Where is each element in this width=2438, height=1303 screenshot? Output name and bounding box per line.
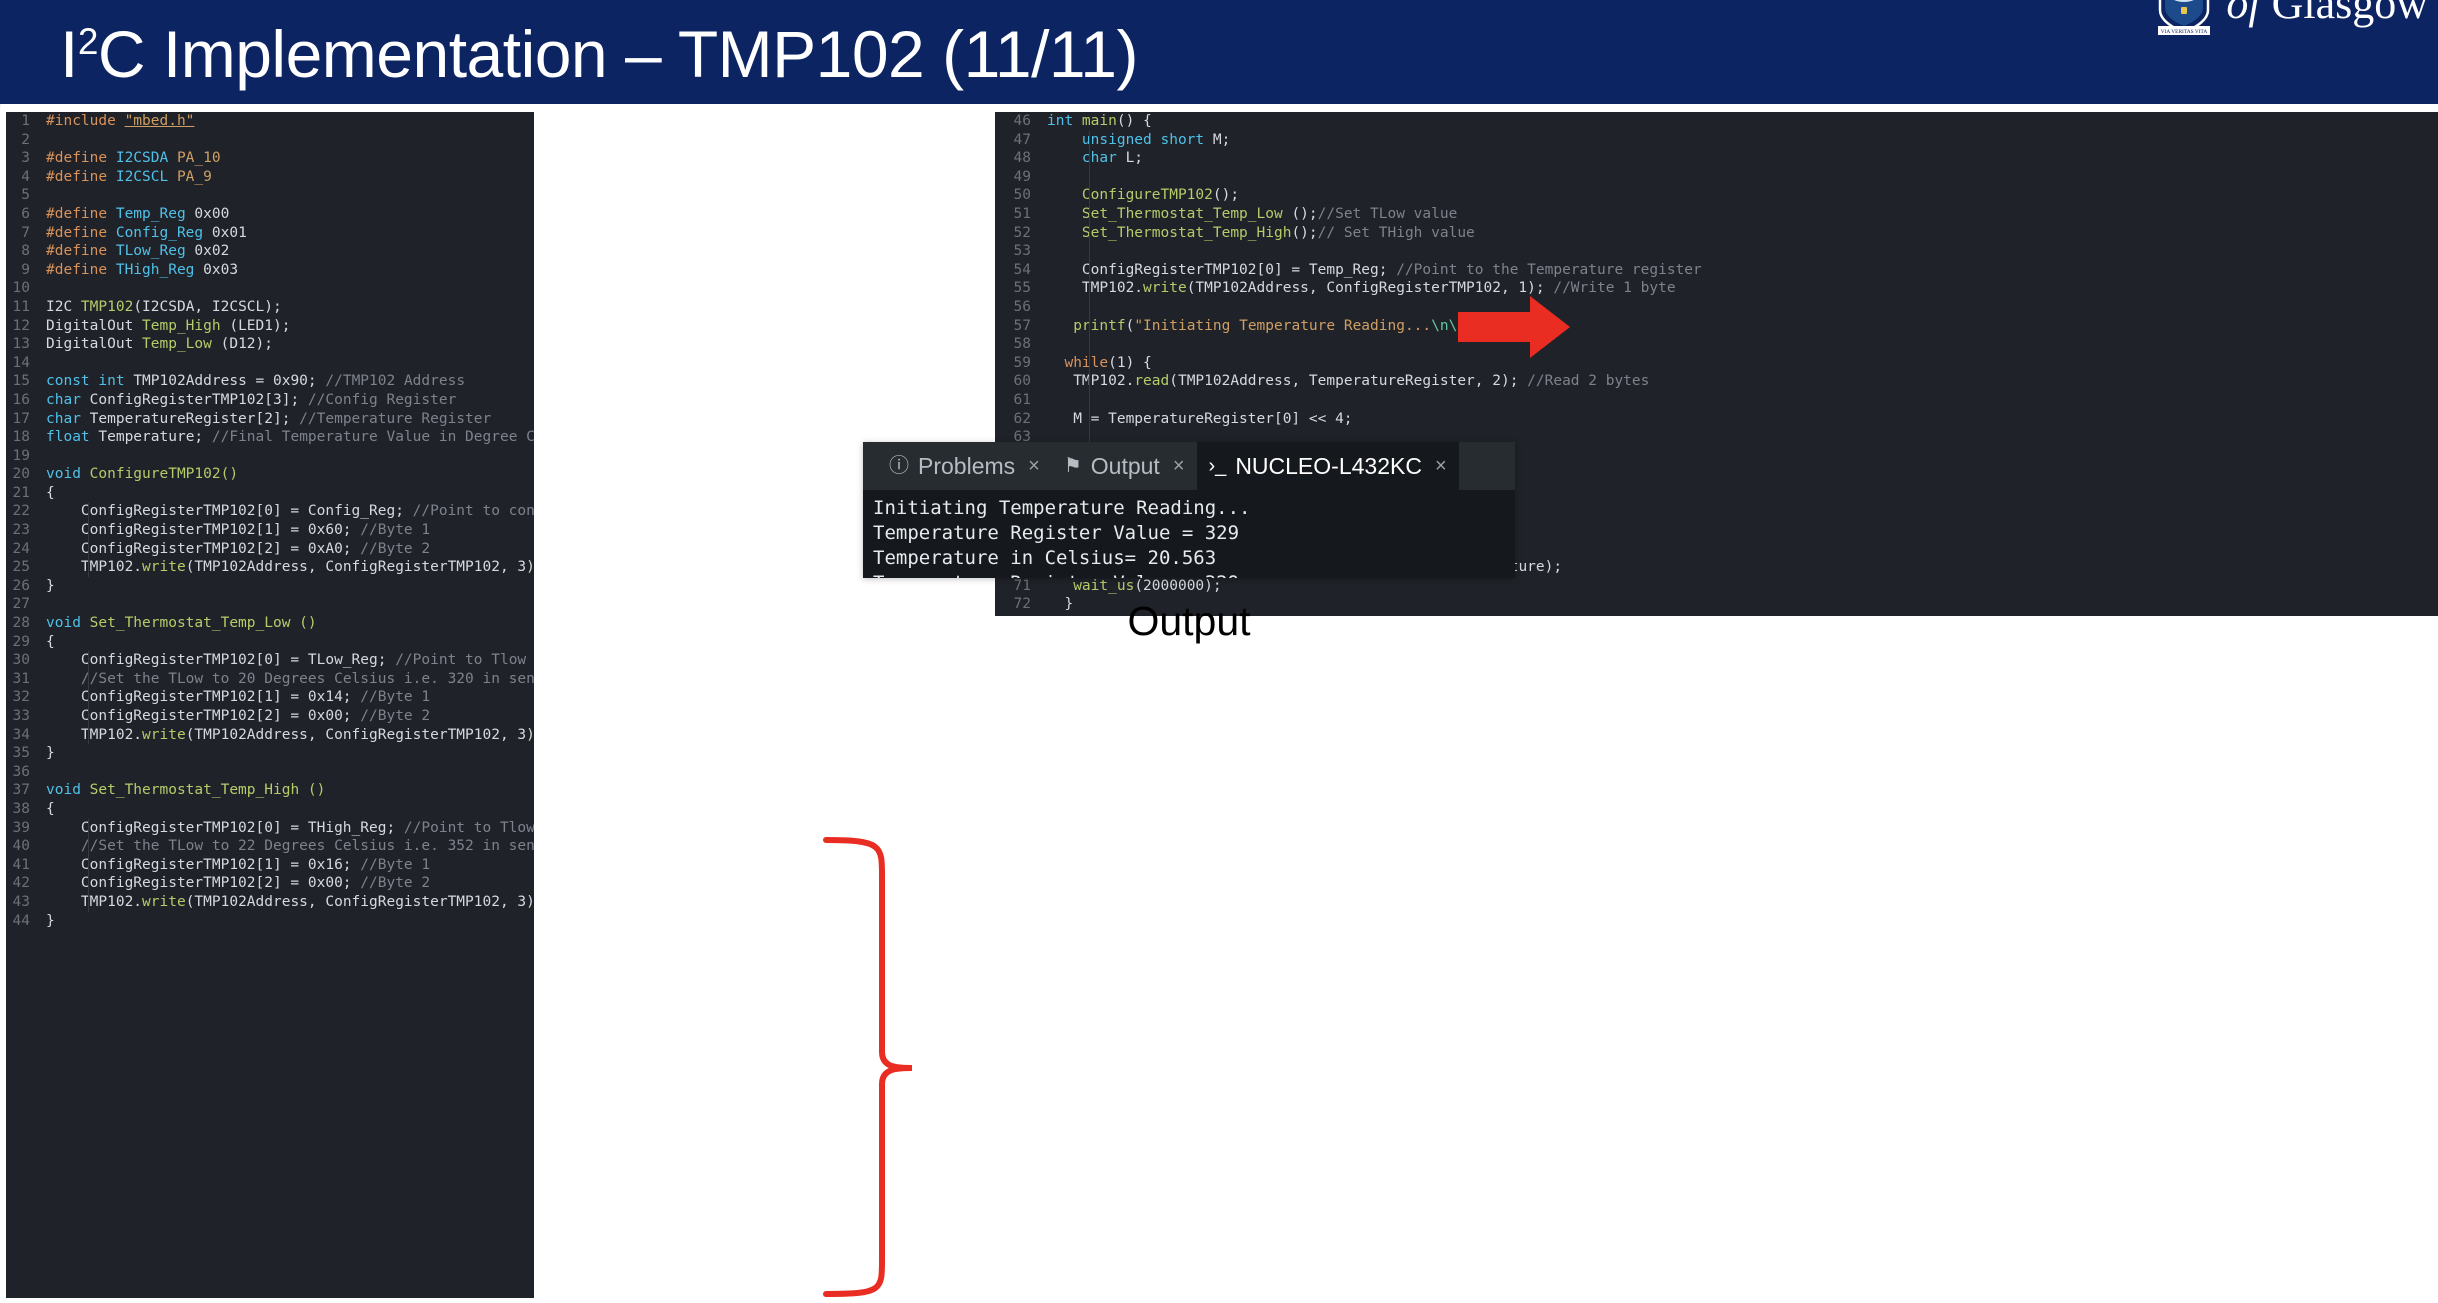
line-number: 28 (6, 614, 46, 633)
code-line[interactable]: 33 ConfigRegisterTMP102[2] = 0x00; //Byt… (6, 707, 534, 726)
code-line-text: unsigned short M; (1047, 131, 2438, 150)
line-number: 54 (995, 261, 1047, 280)
code-line[interactable]: 20void ConfigureTMP102() (6, 465, 534, 484)
line-number: 10 (6, 279, 46, 298)
code-line[interactable]: 3#define I2CSDA PA_10 (6, 149, 534, 168)
code-line[interactable]: 30 ConfigRegisterTMP102[0] = TLow_Reg; /… (6, 651, 534, 670)
logo-word-glasgow: Glasgow (2272, 0, 2428, 28)
code-line-text: #define I2CSCL PA_9 (46, 168, 534, 187)
code-line-text (46, 279, 534, 298)
title-suffix: C Implementation – TMP102 (11/11) (98, 17, 1138, 91)
code-line-text (46, 186, 534, 205)
code-line-text: TMP102.write(TMP102Address, ConfigRegist… (1047, 279, 2438, 298)
code-line[interactable]: 40 //Set the TLow to 22 Degrees Celsius … (6, 837, 534, 856)
code-line-text: } (46, 744, 534, 763)
code-line-text (1047, 391, 2438, 410)
code-line-text: { (46, 800, 534, 819)
line-number: 2 (6, 131, 46, 150)
line-number: 35 (6, 744, 46, 763)
line-number: 3 (6, 149, 46, 168)
code-line-text: { (46, 633, 534, 652)
code-line-text (1047, 242, 2438, 261)
code-line-text: TMP102.write(TMP102Address, ConfigRegist… (46, 558, 534, 577)
code-line-text: #define THigh_Reg 0x03 (46, 261, 534, 280)
code-line[interactable]: 31 //Set the TLow to 20 Degrees Celsius … (6, 670, 534, 689)
code-line-text: float Temperature; //Final Temperature V… (46, 428, 534, 447)
code-line-text: TMP102.read(TMP102Address, TemperatureRe… (1047, 372, 2438, 391)
line-number: 37 (6, 781, 46, 800)
code-line-text: M = TemperatureRegister[0] << 4; (1047, 410, 2438, 429)
terminal-tab-label: NUCLEO-L432KC (1235, 453, 1422, 480)
line-number: 23 (6, 521, 46, 540)
line-number: 14 (6, 354, 46, 373)
code-line[interactable]: 24 ConfigRegisterTMP102[2] = 0xA0; //Byt… (6, 540, 534, 559)
code-line-text: } (46, 577, 534, 596)
code-line-text: ConfigRegisterTMP102[0] = TLow_Reg; //Po… (46, 651, 534, 670)
line-number: 7 (6, 224, 46, 243)
code-line[interactable]: 57 printf("Initiating Temperature Readin… (995, 317, 2438, 336)
code-line[interactable]: 2 (6, 131, 534, 150)
indent-guide (88, 819, 89, 912)
code-line[interactable]: 26} (6, 577, 534, 596)
title-prefix: I (60, 17, 78, 91)
line-number: 29 (6, 633, 46, 652)
code-line[interactable]: 59 while(1) { (995, 354, 2438, 373)
code-line[interactable]: 62 M = TemperatureRegister[0] << 4; (995, 410, 2438, 429)
code-line[interactable]: 11I2C TMP102(I2CSDA, I2CSCL); (6, 298, 534, 317)
line-number: 5 (6, 186, 46, 205)
code-line-text: DigitalOut Temp_Low (D12); (46, 335, 534, 354)
terminal-tab-label: Problems (918, 453, 1015, 480)
code-line-text: const int TMP102Address = 0x90; //TMP102… (46, 372, 534, 391)
line-number: 8 (6, 242, 46, 261)
line-number: 24 (6, 540, 46, 559)
code-editor-left-pane[interactable]: 1#include "mbed.h"23#define I2CSDA PA_10… (6, 112, 534, 1298)
code-line-text: void Set_Thermostat_Temp_High () (46, 781, 534, 800)
university-of-glasgow-logo: VIA VERITAS VITA of Glasgow (2156, 0, 2428, 36)
line-number: 44 (6, 912, 46, 931)
line-number: 18 (6, 428, 46, 447)
code-line[interactable]: 19 (6, 447, 534, 466)
code-line[interactable]: 23 ConfigRegisterTMP102[1] = 0x60; //Byt… (6, 521, 534, 540)
page-title: I2C Implementation – TMP102 (11/11) (60, 16, 1138, 92)
line-number: 30 (6, 651, 46, 670)
terminal-tab-label: Output (1091, 453, 1160, 480)
line-number: 19 (6, 447, 46, 466)
code-line[interactable]: 12DigitalOut Temp_High (LED1); (6, 317, 534, 336)
code-line-text: #define Temp_Reg 0x00 (46, 205, 534, 224)
line-number: 51 (995, 205, 1047, 224)
code-line-text: Set_Thermostat_Temp_Low ();//Set TLow va… (1047, 205, 2438, 224)
code-line-text: char TemperatureRegister[2]; //Temperatu… (46, 410, 534, 429)
code-line-text: ConfigRegisterTMP102[1] = 0x16; //Byte 1 (46, 856, 534, 875)
code-line-text: void Set_Thermostat_Temp_Low () (46, 614, 534, 633)
code-line-text: while(1) { (1047, 354, 2438, 373)
line-number: 52 (995, 224, 1047, 243)
line-number: 11 (6, 298, 46, 317)
line-number: 56 (995, 298, 1047, 317)
code-line-text: ConfigRegisterTMP102[1] = 0x60; //Byte 1 (46, 521, 534, 540)
code-line-text (46, 595, 534, 614)
line-number: 25 (6, 558, 46, 577)
code-line-text (46, 763, 534, 782)
code-line[interactable]: 48 char L; (995, 149, 2438, 168)
code-line[interactable]: 54 ConfigRegisterTMP102[0] = Temp_Reg; /… (995, 261, 2438, 280)
code-line[interactable]: 71 wait_us(2000000); (995, 577, 2438, 596)
line-number: 42 (6, 874, 46, 893)
code-line[interactable]: 5 (6, 186, 534, 205)
code-line-text: } (46, 912, 534, 931)
line-number: 49 (995, 168, 1047, 187)
code-line[interactable]: 13DigitalOut Temp_Low (D12); (6, 335, 534, 354)
code-line-text: int main() { (1047, 112, 2438, 131)
university-crest-icon: VIA VERITAS VITA (2156, 0, 2212, 36)
code-line[interactable]: 29{ (6, 633, 534, 652)
code-line[interactable]: 55 TMP102.write(TMP102Address, ConfigReg… (995, 279, 2438, 298)
line-number: 61 (995, 391, 1047, 410)
line-number: 39 (6, 819, 46, 838)
code-line[interactable]: 36 (6, 763, 534, 782)
line-number: 48 (995, 149, 1047, 168)
code-line[interactable]: 9#define THigh_Reg 0x03 (6, 261, 534, 280)
line-number: 46 (995, 112, 1047, 131)
code-line[interactable]: 21{ (6, 484, 534, 503)
code-line[interactable]: 60 TMP102.read(TMP102Address, Temperatur… (995, 372, 2438, 391)
line-number: 57 (995, 317, 1047, 336)
line-number: 58 (995, 335, 1047, 354)
line-number: 53 (995, 242, 1047, 261)
code-line-text: void ConfigureTMP102() (46, 465, 534, 484)
code-line-text: DigitalOut Temp_High (LED1); (46, 317, 534, 336)
code-line[interactable]: 1#include "mbed.h" (6, 112, 534, 131)
line-number: 17 (6, 410, 46, 429)
line-number: 38 (6, 800, 46, 819)
line-number: 6 (6, 205, 46, 224)
code-line-text: ConfigureTMP102(); (1047, 186, 2438, 205)
line-number: 13 (6, 335, 46, 354)
indent-guide (88, 503, 89, 577)
code-line-text (46, 354, 534, 373)
line-number: 26 (6, 577, 46, 596)
warning-circle-icon: ⓘ (889, 456, 909, 476)
code-line-text: char L; (1047, 149, 2438, 168)
code-line[interactable]: 50 ConfigureTMP102(); (995, 186, 2438, 205)
code-line-text: ConfigRegisterTMP102[0] = Config_Reg; //… (46, 502, 534, 521)
code-line[interactable]: 47 unsigned short M; (995, 131, 2438, 150)
code-line[interactable]: 56 (995, 298, 2438, 317)
code-line[interactable]: 22 ConfigRegisterTMP102[0] = Config_Reg;… (6, 502, 534, 521)
red-curly-brace-annotation-icon (820, 836, 950, 1298)
line-number: 47 (995, 131, 1047, 150)
logo-wordmark: of Glasgow (2226, 0, 2428, 29)
line-number: 21 (6, 484, 46, 503)
close-icon[interactable]: × (1435, 455, 1447, 478)
code-line-text: Set_Thermostat_Temp_High();// Set THigh … (1047, 224, 2438, 243)
flag-icon: ⚑ (1064, 456, 1082, 476)
code-line[interactable]: 52 Set_Thermostat_Temp_High();// Set THi… (995, 224, 2438, 243)
code-line[interactable]: 34 TMP102.write(TMP102Address, ConfigReg… (6, 726, 534, 745)
code-line-text: #include "mbed.h" (46, 112, 534, 131)
code-line[interactable]: 16char ConfigRegisterTMP102[3]; //Config… (6, 391, 534, 410)
code-line[interactable]: 17char TemperatureRegister[2]; //Tempera… (6, 410, 534, 429)
code-line-text: printf("Initiating Temperature Reading..… (1047, 317, 2438, 336)
line-number: 62 (995, 410, 1047, 429)
code-line[interactable]: 32 ConfigRegisterTMP102[1] = 0x14; //Byt… (6, 688, 534, 707)
code-line-text: char ConfigRegisterTMP102[3]; //Config R… (46, 391, 534, 410)
logo-word-of: of (2226, 0, 2271, 28)
terminal-panel[interactable]: ⓘProblems×⚑Output×›_NUCLEO-L432KC× Initi… (863, 442, 1515, 578)
code-line[interactable]: 39 ConfigRegisterTMP102[0] = THigh_Reg; … (6, 819, 534, 838)
line-number: 16 (6, 391, 46, 410)
code-line[interactable]: 37void Set_Thermostat_Temp_High () (6, 781, 534, 800)
code-line-text: #define TLow_Reg 0x02 (46, 242, 534, 261)
code-line[interactable]: 6#define Temp_Reg 0x00 (6, 205, 534, 224)
code-line-text: ConfigRegisterTMP102[0] = Temp_Reg; //Po… (1047, 261, 2438, 280)
code-line-text: ConfigRegisterTMP102[0] = THigh_Reg; //P… (46, 819, 534, 838)
code-line[interactable]: 27 (6, 595, 534, 614)
code-line-text: #define Config_Reg 0x01 (46, 224, 534, 243)
code-line-text (46, 131, 534, 150)
code-line-text (1047, 298, 2438, 317)
title-superscript: 2 (78, 21, 98, 62)
line-number: 31 (6, 670, 46, 689)
code-line-text: wait_us(2000000); (1047, 577, 2438, 596)
line-number: 20 (6, 465, 46, 484)
code-line-text: ConfigRegisterTMP102[1] = 0x14; //Byte 1 (46, 688, 534, 707)
line-number: 55 (995, 279, 1047, 298)
code-line[interactable]: 58 (995, 335, 2438, 354)
terminal-tab-bar[interactable]: ⓘProblems×⚑Output×›_NUCLEO-L432KC× (863, 442, 1515, 490)
svg-text:VIA VERITAS VITA: VIA VERITAS VITA (2161, 29, 2208, 35)
code-line[interactable]: 49 (995, 168, 2438, 187)
terminal-tab-problems[interactable]: ⓘProblems× (877, 442, 1052, 490)
code-line[interactable]: 61 (995, 391, 2438, 410)
code-line[interactable]: 42 ConfigRegisterTMP102[2] = 0x00; //Byt… (6, 874, 534, 893)
code-line[interactable]: 41 ConfigRegisterTMP102[1] = 0x16; //Byt… (6, 856, 534, 875)
output-caption-label: Output (863, 598, 1515, 645)
terminal-prompt-icon: ›_ (1209, 456, 1227, 476)
code-line[interactable]: 38{ (6, 800, 534, 819)
code-line-text (46, 447, 534, 466)
line-number: 60 (995, 372, 1047, 391)
line-number: 12 (6, 317, 46, 336)
line-number: 34 (6, 726, 46, 745)
code-line-text: { (46, 484, 534, 503)
line-number: 32 (6, 688, 46, 707)
code-line[interactable]: 8#define TLow_Reg 0x02 (6, 242, 534, 261)
line-number: 15 (6, 372, 46, 391)
code-line[interactable]: 14 (6, 354, 534, 373)
line-number: 41 (6, 856, 46, 875)
code-line[interactable]: 35} (6, 744, 534, 763)
line-number: 43 (6, 893, 46, 912)
red-arrow-annotation-icon (1458, 296, 1570, 358)
code-line-text: ConfigRegisterTMP102[2] = 0x00; //Byte 2 (46, 874, 534, 893)
code-line-text: #define I2CSDA PA_10 (46, 149, 534, 168)
terminal-tab-output[interactable]: ⚑Output× (1052, 442, 1197, 490)
code-line[interactable]: 15const int TMP102Address = 0x90; //TMP1… (6, 372, 534, 391)
code-line-text: I2C TMP102(I2CSDA, I2CSCL); (46, 298, 534, 317)
line-number: 59 (995, 354, 1047, 373)
line-number: 71 (995, 577, 1047, 596)
code-line[interactable]: 18float Temperature; //Final Temperature… (6, 428, 534, 447)
line-number: 9 (6, 261, 46, 280)
code-line-text: ConfigRegisterTMP102[2] = 0x00; //Byte 2 (46, 707, 534, 726)
code-line[interactable]: 51 Set_Thermostat_Temp_Low ();//Set TLow… (995, 205, 2438, 224)
code-line-text: //Set the TLow to 22 Degrees Celsius i.e… (46, 837, 534, 856)
code-line-text: TMP102.write(TMP102Address, ConfigRegist… (46, 893, 534, 912)
code-line-text: TMP102.write(TMP102Address, ConfigRegist… (46, 726, 534, 745)
line-number: 40 (6, 837, 46, 856)
code-line[interactable]: 4#define I2CSCL PA_9 (6, 168, 534, 187)
code-line[interactable]: 53 (995, 242, 2438, 261)
terminal-output-text: Initiating Temperature Reading... Temper… (863, 490, 1515, 578)
code-line-text (1047, 168, 2438, 187)
code-line-text: //Set the TLow to 20 Degrees Celsius i.e… (46, 670, 534, 689)
terminal-tab-nucleo-l432kc[interactable]: ›_NUCLEO-L432KC× (1197, 442, 1459, 490)
indent-guide (88, 651, 89, 744)
close-icon[interactable]: × (1028, 455, 1040, 478)
line-number: 50 (995, 186, 1047, 205)
line-number: 36 (6, 763, 46, 782)
slide-header-banner: I2C Implementation – TMP102 (11/11) VIA … (0, 0, 2438, 104)
line-number: 33 (6, 707, 46, 726)
code-line[interactable]: 46int main() { (995, 112, 2438, 131)
code-line-text: ConfigRegisterTMP102[2] = 0xA0; //Byte 2 (46, 540, 534, 559)
line-number: 1 (6, 112, 46, 131)
code-line-text (1047, 335, 2438, 354)
close-icon[interactable]: × (1173, 455, 1185, 478)
code-line[interactable]: 25 TMP102.write(TMP102Address, ConfigReg… (6, 558, 534, 577)
line-number: 4 (6, 168, 46, 187)
code-line[interactable]: 44} (6, 912, 534, 931)
code-line[interactable]: 43 TMP102.write(TMP102Address, ConfigReg… (6, 893, 534, 912)
line-number: 22 (6, 502, 46, 521)
line-number: 27 (6, 595, 46, 614)
code-line[interactable]: 7#define Config_Reg 0x01 (6, 224, 534, 243)
code-line[interactable]: 28void Set_Thermostat_Temp_Low () (6, 614, 534, 633)
code-line[interactable]: 10 (6, 279, 534, 298)
